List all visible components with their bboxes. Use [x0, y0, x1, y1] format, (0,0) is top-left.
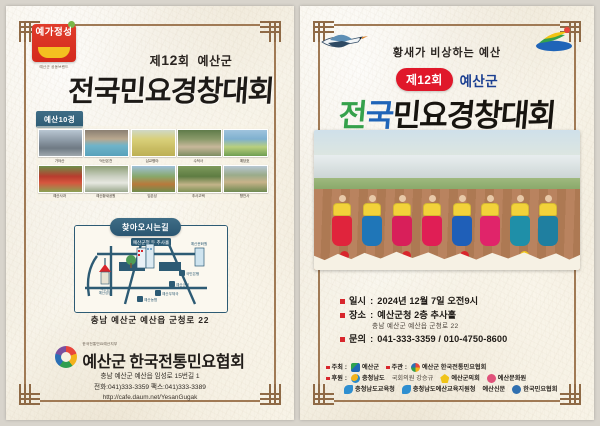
title-part-green: 전 [337, 98, 367, 133]
performer-figure [392, 195, 412, 246]
scenic-item[interactable]: 추사고택 [177, 165, 220, 200]
left-main-title: 전국민요경창대회 [57, 68, 286, 110]
svg-text:예산우체국: 예산우체국 [162, 291, 179, 296]
brand-emblem-icon: 예가정성 [32, 24, 76, 62]
badge-number: 12 [417, 73, 431, 87]
scenic-caption: 임존성 [131, 194, 174, 199]
badge-suffix: 회 [431, 73, 442, 87]
detail-inquiry-label: 문의 [349, 332, 366, 346]
performer-figure [422, 195, 442, 246]
scenic-caption: 수덕사 [177, 159, 220, 164]
scenic-photo-icon [177, 129, 222, 157]
scenic-item[interactable]: 가야산 [38, 129, 81, 164]
organization-contact: 충남 예산군 예산읍 임성로 15번길 1 전화:041)333-3359 팩스… [40, 372, 260, 404]
right-page: 황새가 비상하는 예산 제12회 예산군 전국민요경창대회 [300, 6, 594, 420]
supporter-item: 예산신문 [482, 384, 505, 395]
supporter-item: 한국민요협회 [512, 384, 557, 395]
scenic-photo-icon [131, 129, 176, 157]
scenic-caption: 예산사과 [38, 194, 81, 199]
scenic-caption: 예산황새공원 [84, 194, 127, 199]
education-support-office-mark-icon [402, 385, 411, 394]
scenic-caption: 가야산 [38, 159, 81, 164]
organization-phone: 전화:041)333-3359 팩스:041)333-3389 [40, 383, 260, 394]
photo-pavilion [314, 155, 580, 177]
host-label: 주최 [332, 362, 343, 373]
organization-name: 예산군 한국전통민요협회 [82, 348, 244, 372]
detail-place-value: 예산군청 2층 추사홀 [377, 308, 456, 322]
scenic-photo-icon [84, 165, 129, 193]
detail-venue-address: 충남 예산군 예산읍 군청로 22 [372, 322, 568, 332]
scenic-photo-icon [223, 165, 268, 193]
scenic-item[interactable]: 예산황새공원 [84, 165, 127, 200]
scenic-caption: 향천사 [223, 194, 266, 199]
scenic-item[interactable]: 향천사 [223, 165, 266, 200]
scenic-item[interactable]: 임존성 [131, 165, 174, 200]
bullet-square-icon [340, 337, 345, 342]
edition-badge: 제12회 [396, 68, 453, 91]
title-part-black: 민요경창대회 [391, 98, 556, 133]
supporter-name: 충청남도 [362, 373, 385, 384]
chungnam-mark-icon [351, 374, 360, 383]
folk-association-mark-icon [411, 363, 420, 372]
kicker-prefix: 제 [150, 54, 162, 68]
event-details: 일시: 2024년 12월 7일 오전9시 장소: 예산군청 2층 추사홀 충남… [340, 294, 568, 346]
left-kicker: 제12회 예산군 [101, 52, 281, 69]
sponsor-line-host: 주최: 예산군 주관: 예산군 한국전통민요협회 [326, 362, 570, 373]
left-page: 예가정성 예산군 공동브랜드 제12회 예산군 전국민요경창대회 예산10경 가… [6, 6, 294, 420]
venue-address-left: 충남 예산군 예산읍 군청로 22 [46, 314, 254, 326]
bullet-square-icon [326, 377, 330, 381]
organization-top-line: 한국전통민요예산지부 [82, 342, 244, 347]
supporter-item: 예산군의회 [440, 373, 479, 384]
brand-bowl-icon [38, 47, 70, 58]
location-map[interactable]: 예산군청 두 추사홀 예산문화원 [74, 225, 228, 313]
svg-text:예산농협: 예산농협 [144, 297, 157, 302]
supporter-name: 예산신문 [482, 384, 505, 395]
support-label-group: 후원: [326, 373, 347, 384]
sponsor-host: 예산군 [351, 362, 379, 373]
sponsor-block: 주최: 예산군 주관: 예산군 한국전통민요협회 후원: [326, 362, 570, 395]
map-graphic-icon: 예산군청 두 추사홀 예산문화원 [75, 226, 227, 312]
scenic-item[interactable]: 예산사과 [38, 165, 81, 200]
supporter-name: 예산군의회 [451, 373, 479, 384]
supporter-name: 국회의원 강승규 [392, 373, 434, 384]
supporter-item: 충청남도교육청 [344, 384, 395, 395]
kicker-suffix: 회 [178, 54, 190, 68]
support-label: 후원 [332, 373, 343, 384]
sponsor-line-support-2: 충청남도교육청 충청남도예산교육지원청 예산신문 한국민요협회 [326, 384, 570, 395]
scenic-item[interactable]: 덕산온천 [84, 129, 127, 164]
performer-figure [362, 195, 382, 246]
map-title-badge: 찾아오시는길 [110, 218, 181, 236]
manager-label: 주관 [392, 362, 403, 373]
scenic-row-2: 예산사과 예산황새공원 임존성 추사고택 향천사 [38, 165, 266, 200]
detail-date: 일시: 2024년 12월 7일 오전9시 [340, 294, 568, 308]
host-label-group: 주최: [326, 362, 347, 373]
culture-center-mark-icon [487, 374, 496, 383]
title-part-blue: 국 [364, 98, 394, 133]
scenic-caption: 추사고택 [177, 194, 220, 199]
organization-logo-icon [55, 346, 77, 368]
education-office-mark-icon [344, 385, 353, 394]
right-tagline: 황새가 비상하는 예산 [300, 44, 594, 60]
sponsor-line-support-1: 후원: 충청남도 국회의원 강승규 예산군의회 예산문화원 [326, 373, 570, 384]
performer-figure [538, 195, 558, 246]
kicker-org: 예산군 [198, 54, 233, 68]
kicker-number: 12 [161, 52, 178, 68]
scenic-photo-icon [177, 165, 222, 193]
svg-text:예산성당: 예산성당 [99, 290, 111, 295]
supporter-name: 한국민요협회 [523, 384, 557, 395]
scenic-photo-icon [84, 129, 129, 157]
performer-figure [510, 195, 530, 246]
host-name: 예산군 [362, 362, 379, 373]
scenic-photo-grid: 가야산 덕산온천 삽교평야 수덕사 예당호 [36, 126, 268, 201]
supporter-name: 예산문화원 [498, 373, 526, 384]
scenic-row-1: 가야산 덕산온천 삽교평야 수덕사 예당호 [38, 129, 266, 164]
supporter-item: 예산문화원 [487, 373, 526, 384]
organization-block: 한국전통민요예산지부 예산군 한국전통민요협회 [40, 342, 260, 372]
brochure-sheet: 예가정성 예산군 공동브랜드 제12회 예산군 전국민요경창대회 예산10경 가… [0, 0, 600, 426]
bullet-square-icon [340, 299, 345, 304]
right-badge-row: 제12회 예산군 [300, 68, 594, 91]
bullet-square-icon [326, 366, 330, 370]
badge-prefix: 제 [406, 73, 417, 87]
detail-place-label: 장소 [349, 308, 366, 322]
photo-lawn [314, 178, 580, 189]
supporter-item: 충청남도예산교육지원청 [402, 384, 476, 395]
korea-folk-association-mark-icon [512, 385, 521, 394]
detail-date-value: 2024년 12월 7일 오전9시 [377, 294, 478, 308]
scenic-photo-icon [131, 165, 176, 193]
sponsor-manager: 예산군 한국전통민요협회 [411, 362, 486, 373]
yesan-brand-logo: 예가정성 예산군 공동브랜드 [28, 24, 80, 70]
performer-figure [452, 195, 472, 246]
scenic-caption: 삽교평야 [131, 159, 174, 164]
detail-inquiry: 문의: 041-333-3359 / 010-4750-8600 [340, 332, 568, 346]
bullet-square-icon [340, 313, 345, 318]
detail-inquiry-value[interactable]: 041-333-3359 / 010-4750-8600 [377, 332, 507, 346]
scenic-photo-icon [223, 129, 268, 157]
yesan-county-mark-icon [351, 363, 360, 372]
supporter-name: 충청남도교육청 [355, 384, 395, 395]
scenic-item[interactable]: 예당호 [223, 129, 266, 164]
organization-address: 충남 예산군 예산읍 임성로 15번길 1 [40, 372, 260, 383]
brand-name: 예가정성 [32, 28, 76, 39]
supporter-item: 충청남도 [351, 373, 385, 384]
svg-text:예산군청: 예산군청 [176, 282, 189, 287]
manager-name: 예산군 한국전통민요협회 [422, 362, 486, 373]
corner-ornament-icon [256, 18, 282, 44]
svg-text:예산문화원: 예산문화원 [191, 241, 208, 246]
performer-figure [332, 195, 352, 246]
bullet-square-icon [386, 366, 390, 370]
county-name: 예산군 [460, 70, 498, 90]
detail-place: 장소: 예산군청 2층 추사홀 [340, 308, 568, 322]
performer-figure [480, 195, 500, 246]
scenic-caption: 예당호 [223, 159, 266, 164]
scenic-item[interactable]: 삽교평야 [131, 129, 174, 164]
scenic-photo-icon [38, 165, 83, 193]
supporter-name: 충청남도예산교육지원청 [413, 384, 476, 395]
svg-text:국민은행: 국민은행 [186, 271, 199, 276]
detail-date-label: 일시 [349, 294, 366, 308]
right-main-title: 전국민요경창대회 [300, 90, 594, 135]
scenic-caption: 덕산온천 [84, 159, 127, 164]
scenic-item[interactable]: 수덕사 [177, 129, 220, 164]
supporter-item: 국회의원 강승규 [392, 373, 434, 384]
performance-photo [314, 130, 580, 270]
organization-url[interactable]: http://cafe.daum.net/YesanGugak [40, 393, 260, 404]
scenic-photo-icon [38, 129, 83, 157]
manager-label-group: 주관: [386, 362, 407, 373]
county-council-mark-icon [440, 374, 449, 383]
